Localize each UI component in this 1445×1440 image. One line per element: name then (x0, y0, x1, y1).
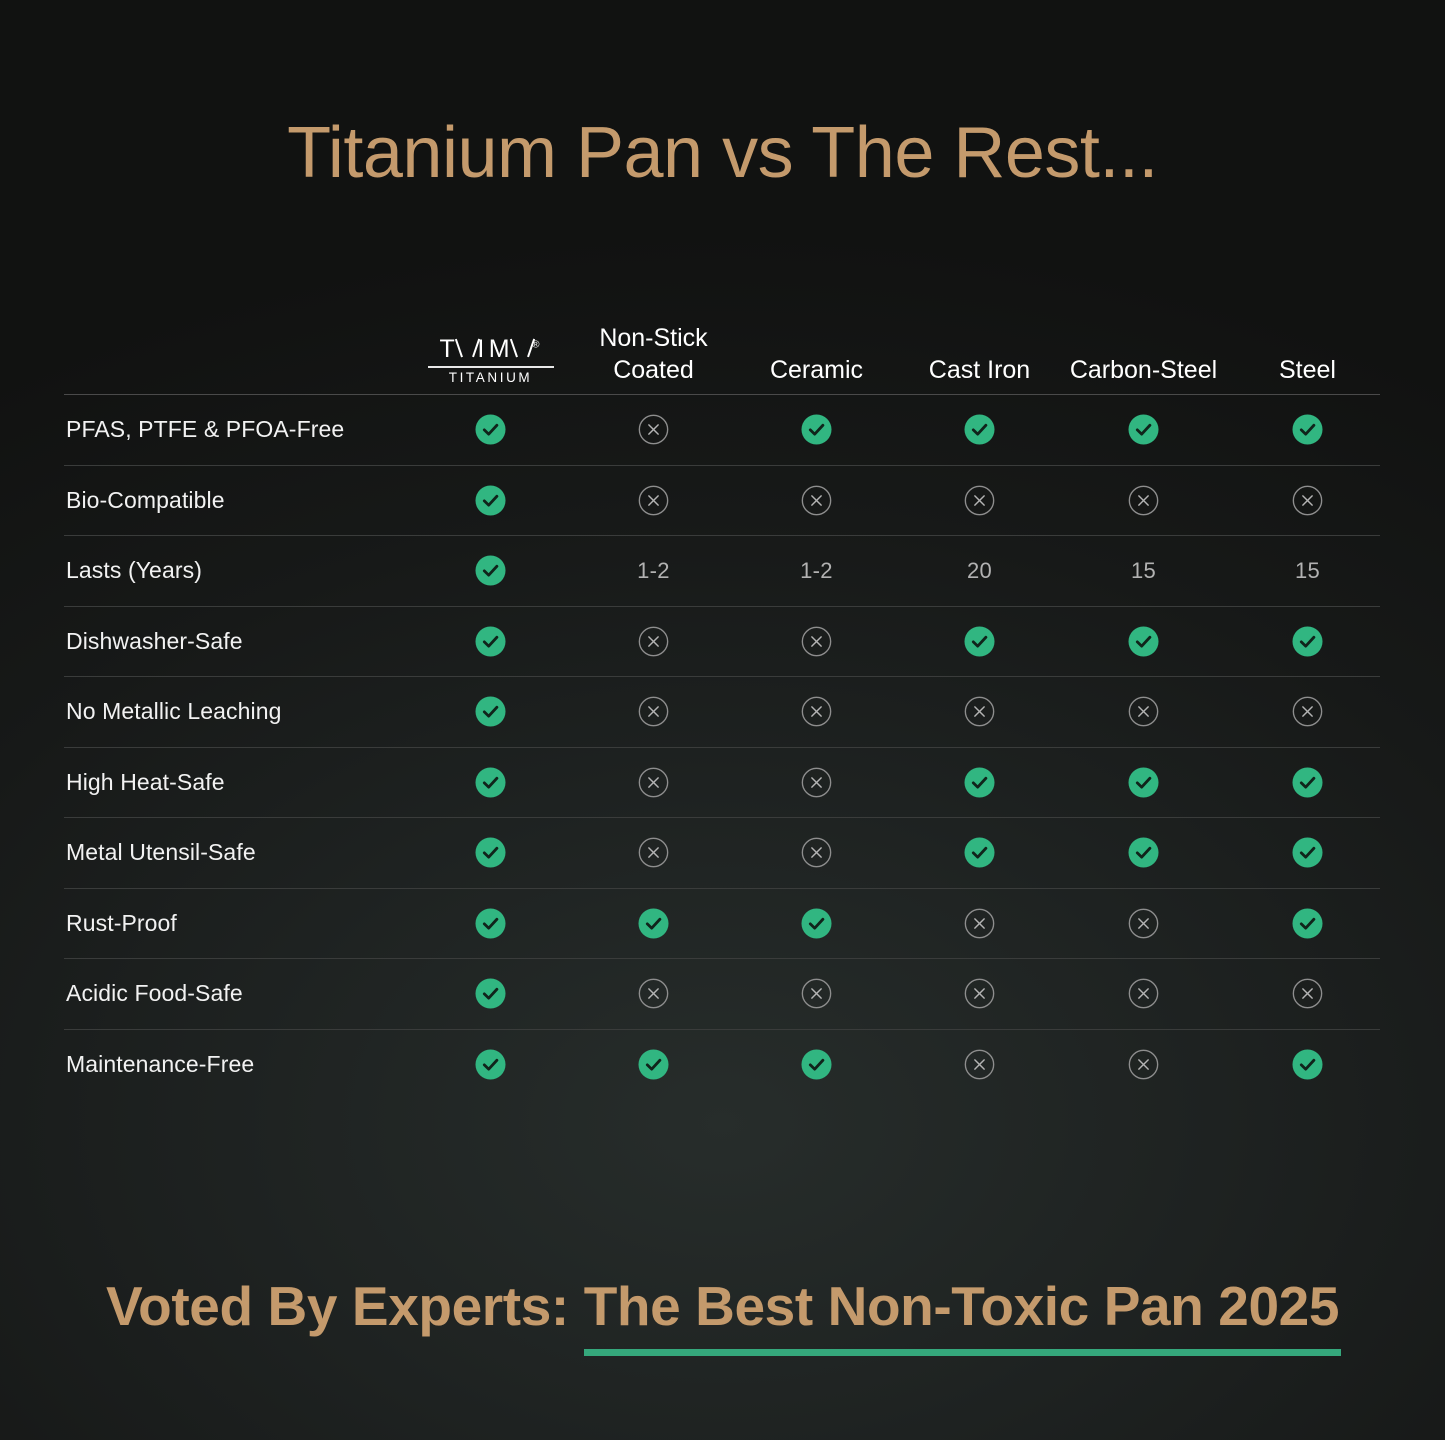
check-yes-icon (475, 555, 506, 586)
cross-no-icon (638, 767, 669, 798)
cross-no-icon (1128, 696, 1159, 727)
cross-no-icon (1292, 978, 1323, 1009)
value-cell-carbonsteel (1061, 837, 1226, 868)
table-header-row: TIM® TITANIUM Non-Stick Coated Ceramic C… (64, 325, 1380, 395)
value-cell-steel (1226, 837, 1389, 868)
column-header-nonstick: Non-Stick Coated (572, 322, 735, 390)
cross-no-icon (801, 696, 832, 727)
footer-lead-text: Voted By Experts: (106, 1275, 584, 1337)
feature-cell: Rust-Proof (64, 910, 409, 937)
comparison-table: TIM® TITANIUM Non-Stick Coated Ceramic C… (64, 325, 1380, 1100)
feature-label: Lasts (Years) (66, 557, 409, 584)
check-yes-icon (475, 767, 506, 798)
footer: Voted By Experts: The Best Non-Toxic Pan… (0, 1274, 1445, 1340)
check-yes-icon (1292, 1049, 1323, 1080)
feature-label: High Heat-Safe (66, 769, 409, 796)
cross-no-icon (1128, 485, 1159, 516)
feature-cell: Bio-Compatible (64, 487, 409, 514)
check-yes-icon (1128, 626, 1159, 657)
cross-no-icon (1128, 1049, 1159, 1080)
cross-no-icon (801, 626, 832, 657)
feature-cell: No Metallic Leaching (64, 698, 409, 725)
value-cell-castiron (898, 1049, 1061, 1080)
column-header-label: Steel (1279, 354, 1336, 390)
page-title: Titanium Pan vs The Rest... (0, 112, 1445, 194)
value-cell-carbonsteel (1061, 978, 1226, 1009)
value-text: 1-2 (637, 558, 670, 584)
table-row: Metal Utensil-Safe (64, 818, 1380, 889)
check-yes-icon (475, 908, 506, 939)
value-cell-steel (1226, 696, 1389, 727)
cross-no-icon (801, 837, 832, 868)
value-cell-steel (1226, 626, 1389, 657)
feature-label: Rust-Proof (66, 910, 409, 937)
value-cell-taima (409, 626, 572, 657)
footer-highlight-text: The Best Non-Toxic Pan 2025 (584, 1274, 1339, 1340)
taima-chevron-a1 (459, 339, 476, 357)
table-row: Dishwasher-Safe (64, 607, 1380, 678)
column-header-label: Carbon-Steel (1070, 354, 1217, 390)
check-yes-icon (475, 1049, 506, 1080)
column-header-steel: Steel (1226, 354, 1389, 390)
feature-label: Metal Utensil-Safe (66, 839, 409, 866)
cross-no-icon (638, 626, 669, 657)
value-cell-taima (409, 908, 572, 939)
value-cell-carbonsteel (1061, 767, 1226, 798)
value-cell-steel (1226, 485, 1389, 516)
value-text: 15 (1295, 558, 1320, 584)
check-yes-icon (1292, 414, 1323, 445)
value-cell-steel (1226, 978, 1389, 1009)
page-header: Titanium Pan vs The Rest... (0, 112, 1445, 194)
value-text: 20 (967, 558, 992, 584)
table-body: PFAS, PTFE & PFOA-FreeBio-CompatibleLast… (64, 395, 1380, 1100)
feature-cell: PFAS, PTFE & PFOA-Free (64, 416, 409, 443)
cross-no-icon (1292, 485, 1323, 516)
table-row: Acidic Food-Safe (64, 959, 1380, 1030)
column-header-castiron: Cast Iron (898, 354, 1061, 390)
value-cell-taima (409, 485, 572, 516)
value-cell-steel (1226, 767, 1389, 798)
column-header-carbonsteel: Carbon-Steel (1061, 354, 1226, 390)
value-cell-taima (409, 555, 572, 586)
value-cell-castiron (898, 978, 1061, 1009)
check-yes-icon (475, 978, 506, 1009)
value-cell-ceramic: 1-2 (735, 558, 898, 584)
check-yes-icon (964, 767, 995, 798)
cross-no-icon (638, 837, 669, 868)
column-header-label: Non-Stick Coated (599, 322, 707, 390)
taima-wordmark: TIM® (440, 337, 542, 362)
check-yes-icon (964, 837, 995, 868)
taima-chevron-a2 (514, 339, 531, 357)
value-cell-carbonsteel (1061, 626, 1226, 657)
cross-no-icon (964, 485, 995, 516)
value-cell-nonstick (572, 978, 735, 1009)
cross-no-icon (1128, 978, 1159, 1009)
table-row: Bio-Compatible (64, 466, 1380, 537)
check-yes-icon (801, 908, 832, 939)
cross-no-icon (638, 696, 669, 727)
feature-label: Dishwasher-Safe (66, 628, 409, 655)
value-cell-steel (1226, 908, 1389, 939)
value-cell-nonstick (572, 626, 735, 657)
value-cell-ceramic (735, 626, 898, 657)
cross-no-icon (1128, 908, 1159, 939)
value-cell-taima (409, 1049, 572, 1080)
feature-cell: Metal Utensil-Safe (64, 839, 409, 866)
value-cell-ceramic (735, 485, 898, 516)
check-yes-icon (1128, 414, 1159, 445)
value-text: 15 (1131, 558, 1156, 584)
value-cell-castiron: 20 (898, 558, 1061, 584)
value-cell-carbonsteel (1061, 696, 1226, 727)
cross-no-icon (801, 485, 832, 516)
column-header-label: Cast Iron (929, 354, 1030, 390)
cross-no-icon (801, 767, 832, 798)
cross-no-icon (801, 978, 832, 1009)
value-cell-nonstick (572, 414, 735, 445)
check-yes-icon (1128, 837, 1159, 868)
value-cell-nonstick (572, 767, 735, 798)
check-yes-icon (1292, 626, 1323, 657)
value-cell-nonstick (572, 1049, 735, 1080)
table-row: PFAS, PTFE & PFOA-Free (64, 395, 1380, 466)
value-text: 1-2 (800, 558, 833, 584)
value-cell-castiron (898, 767, 1061, 798)
value-cell-carbonsteel (1061, 485, 1226, 516)
value-cell-ceramic (735, 908, 898, 939)
check-yes-icon (801, 1049, 832, 1080)
value-cell-taima (409, 696, 572, 727)
table-row: High Heat-Safe (64, 748, 1380, 819)
column-header-ceramic: Ceramic (735, 354, 898, 390)
feature-cell: Dishwasher-Safe (64, 628, 409, 655)
table-row: Lasts (Years)1-21-2201515 (64, 536, 1380, 607)
value-cell-ceramic (735, 837, 898, 868)
check-yes-icon (638, 1049, 669, 1080)
table-row: Maintenance-Free (64, 1030, 1380, 1101)
feature-label: No Metallic Leaching (66, 698, 409, 725)
check-yes-icon (964, 414, 995, 445)
check-yes-icon (1128, 767, 1159, 798)
taima-logo-subtitle: TITANIUM (428, 371, 554, 385)
cross-no-icon (638, 414, 669, 445)
value-cell-ceramic (735, 696, 898, 727)
check-yes-icon (1292, 837, 1323, 868)
cross-no-icon (638, 978, 669, 1009)
value-cell-castiron (898, 696, 1061, 727)
value-cell-carbonsteel (1061, 414, 1226, 445)
column-header-label: Ceramic (770, 354, 863, 390)
footer-headline: Voted By Experts: The Best Non-Toxic Pan… (106, 1274, 1339, 1340)
value-cell-ceramic (735, 1049, 898, 1080)
value-cell-nonstick: 1-2 (572, 558, 735, 584)
value-cell-castiron (898, 485, 1061, 516)
value-cell-carbonsteel (1061, 1049, 1226, 1080)
feature-label: PFAS, PTFE & PFOA-Free (66, 416, 409, 443)
value-cell-castiron (898, 837, 1061, 868)
feature-cell: Maintenance-Free (64, 1051, 409, 1078)
check-yes-icon (475, 485, 506, 516)
value-cell-taima (409, 767, 572, 798)
table-row: Rust-Proof (64, 889, 1380, 960)
cross-no-icon (964, 978, 995, 1009)
feature-cell: Acidic Food-Safe (64, 980, 409, 1007)
feature-label: Acidic Food-Safe (66, 980, 409, 1007)
value-cell-nonstick (572, 837, 735, 868)
value-cell-taima (409, 414, 572, 445)
check-yes-icon (1292, 908, 1323, 939)
value-cell-steel (1226, 414, 1389, 445)
value-cell-ceramic (735, 978, 898, 1009)
cross-no-icon (964, 1049, 995, 1080)
cross-no-icon (964, 696, 995, 727)
value-cell-taima (409, 837, 572, 868)
value-cell-carbonsteel (1061, 908, 1226, 939)
feature-cell: High Heat-Safe (64, 769, 409, 796)
value-cell-ceramic (735, 414, 898, 445)
check-yes-icon (801, 414, 832, 445)
feature-cell: Lasts (Years) (64, 557, 409, 584)
check-yes-icon (475, 626, 506, 657)
check-yes-icon (475, 837, 506, 868)
value-cell-castiron (898, 414, 1061, 445)
value-cell-nonstick (572, 696, 735, 727)
cross-no-icon (638, 485, 669, 516)
check-yes-icon (964, 626, 995, 657)
table-row: No Metallic Leaching (64, 677, 1380, 748)
check-yes-icon (475, 696, 506, 727)
cross-no-icon (1292, 696, 1323, 727)
value-cell-steel (1226, 1049, 1389, 1080)
value-cell-ceramic (735, 767, 898, 798)
cross-no-icon (964, 908, 995, 939)
taima-logo-rule (428, 366, 554, 368)
column-header-taima: TIM® TITANIUM (409, 337, 572, 390)
taima-logo: TIM® TITANIUM (428, 337, 554, 390)
feature-label: Maintenance-Free (66, 1051, 409, 1078)
value-cell-nonstick (572, 485, 735, 516)
value-cell-taima (409, 978, 572, 1009)
feature-label: Bio-Compatible (66, 487, 409, 514)
check-yes-icon (1292, 767, 1323, 798)
check-yes-icon (475, 414, 506, 445)
check-yes-icon (638, 908, 669, 939)
value-cell-castiron (898, 908, 1061, 939)
value-cell-carbonsteel: 15 (1061, 558, 1226, 584)
value-cell-nonstick (572, 908, 735, 939)
value-cell-steel: 15 (1226, 558, 1389, 584)
value-cell-castiron (898, 626, 1061, 657)
